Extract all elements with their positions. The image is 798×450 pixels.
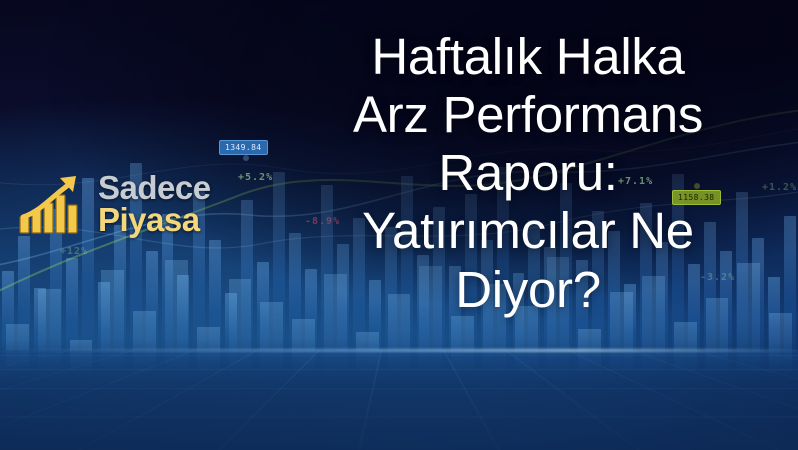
headline-line-5: Diyor? (268, 261, 788, 319)
brand-logo[interactable]: Sadece Piyasa (18, 172, 211, 235)
logo-word-sadece: Sadece (98, 172, 211, 204)
headline-line-3: Raporu: (268, 144, 788, 202)
growth-bar-chart-arrow-icon (18, 173, 90, 235)
thumbnail-canvas: 1349.84 1158.38 +5.2% +7.1% -8.9% +12% +… (0, 0, 798, 450)
page-title: Haftalık Halka Arz Performans Raporu: Ya… (268, 28, 788, 319)
headline-line-2: Arz Performans (268, 86, 788, 144)
percent-label-up-3: +12% (60, 246, 88, 257)
headline-line-1: Haftalık Halka (268, 28, 788, 86)
headline-line-4: Yatırımcılar Ne (268, 202, 788, 260)
price-tag-blue: 1349.84 (219, 140, 268, 155)
logo-wordmark: Sadece Piyasa (98, 172, 211, 235)
logo-word-piyasa: Piyasa (98, 204, 211, 236)
